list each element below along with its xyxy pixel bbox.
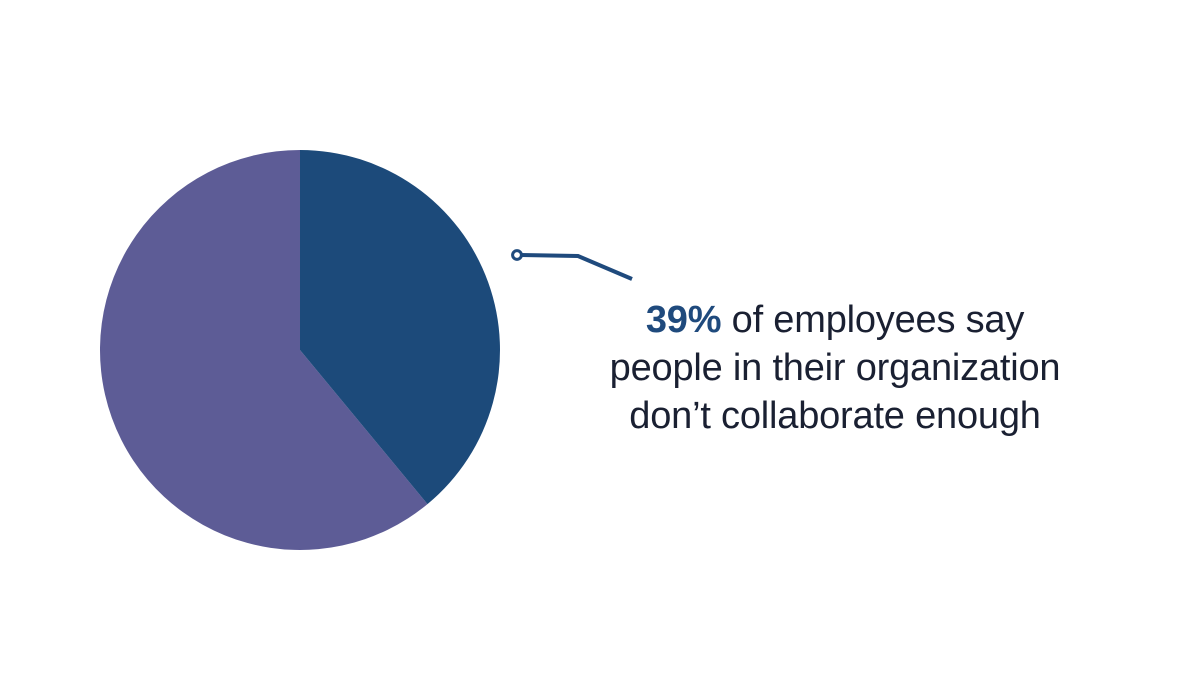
callout-stat-value: 39% xyxy=(646,299,721,341)
pie-chart-infographic: 39% of employees say people in their org… xyxy=(0,0,1200,700)
callout-leader-line xyxy=(521,255,632,279)
callout-text-block: 39% of employees say people in their org… xyxy=(570,296,1100,440)
callout-marker-circle-icon xyxy=(513,251,522,260)
